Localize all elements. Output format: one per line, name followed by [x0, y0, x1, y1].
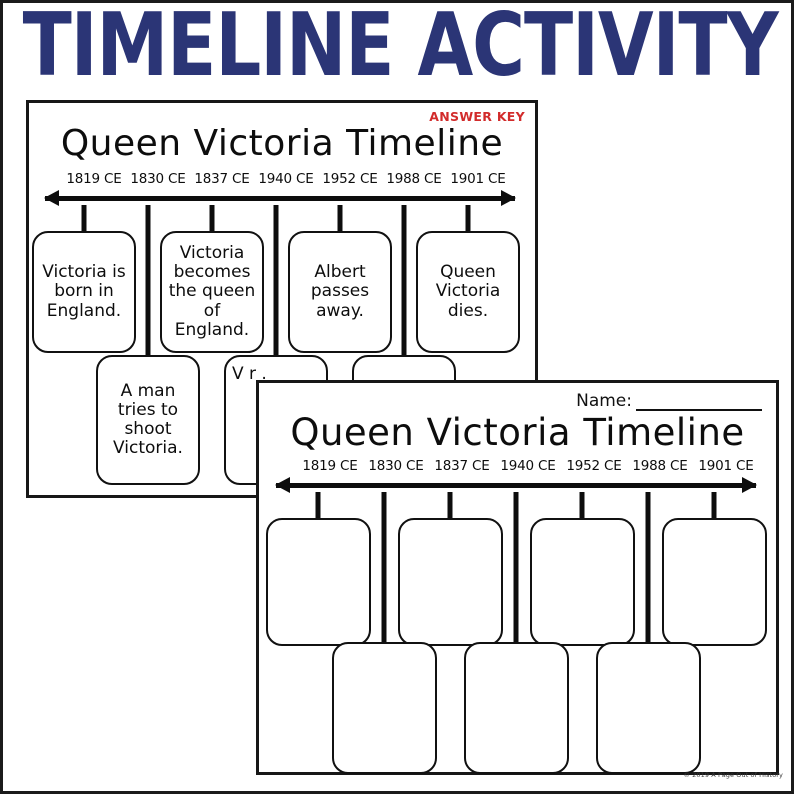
event-box[interactable]	[662, 518, 767, 646]
timeline-tick-stem	[146, 205, 151, 357]
blank-axis	[276, 478, 756, 492]
timeline-date-label: 1952 CE	[322, 171, 377, 187]
blank-worksheet-title: Queen Victoria Timeline	[259, 411, 776, 454]
timeline-tick-stem	[448, 492, 453, 520]
timeline-date-label: 1819 CE	[302, 458, 357, 474]
timeline-tick-stem	[712, 492, 717, 520]
blank-timeline: 1819 CE1830 CE1837 CE1940 CE1952 CE1988 …	[259, 458, 776, 770]
timeline-tick-stem	[382, 492, 387, 644]
name-input-rule[interactable]	[636, 396, 762, 411]
axis-line	[276, 483, 756, 488]
timeline-date-label: 1940 CE	[258, 171, 313, 187]
answer-key-title: Queen Victoria Timeline	[29, 123, 535, 164]
name-label: Name:	[576, 391, 632, 411]
event-box[interactable]: Queen Victoria dies.	[416, 231, 520, 353]
timeline-date-label: 1830 CE	[368, 458, 423, 474]
event-box[interactable]	[530, 518, 635, 646]
event-box[interactable]	[596, 642, 701, 774]
timeline-date-label: 1901 CE	[698, 458, 753, 474]
answer-key-axis	[45, 191, 515, 205]
timeline-tick-stem	[514, 492, 519, 644]
name-field[interactable]: Name:	[576, 391, 762, 411]
timeline-date-label: 1830 CE	[130, 171, 185, 187]
copyright-notice: © 2019 A Page Out of History	[683, 771, 783, 779]
timeline-tick-stem	[580, 492, 585, 520]
event-box[interactable]	[266, 518, 371, 646]
event-box[interactable]	[398, 518, 503, 646]
event-box[interactable]: Albert passes away.	[288, 231, 392, 353]
blank-date-row: 1819 CE1830 CE1837 CE1940 CE1952 CE1988 …	[289, 458, 741, 478]
timeline-tick-stem	[338, 205, 343, 233]
timeline-date-label: 1940 CE	[500, 458, 555, 474]
timeline-tick-stem	[82, 205, 87, 233]
event-box[interactable]: Victoria becomes the queen of England.	[160, 231, 264, 353]
answer-key-badge: ANSWER KEY	[429, 109, 525, 124]
timeline-date-label: 1988 CE	[386, 171, 441, 187]
banner: TIMELINE ACTIVITY	[3, 5, 794, 89]
timeline-tick-stem	[466, 205, 471, 233]
worksheet-preview-canvas: TIMELINE ACTIVITY ANSWER KEY Queen Victo…	[0, 0, 794, 794]
answer-key-date-row: 1819 CE1830 CE1837 CE1940 CE1952 CE1988 …	[55, 171, 497, 191]
blank-worksheet[interactable]: Name: Queen Victoria Timeline 1819 CE183…	[256, 380, 779, 775]
timeline-date-label: 1988 CE	[632, 458, 687, 474]
timeline-tick-stem	[210, 205, 215, 233]
timeline-tick-stem	[274, 205, 279, 357]
axis-arrow-right-icon	[501, 190, 516, 206]
timeline-date-label: 1901 CE	[450, 171, 505, 187]
timeline-date-label: 1952 CE	[566, 458, 621, 474]
timeline-date-label: 1837 CE	[434, 458, 489, 474]
timeline-tick-stem	[402, 205, 407, 357]
axis-arrow-left-icon	[44, 190, 59, 206]
page-title: TIMELINE ACTIVITY	[23, 3, 778, 90]
event-box[interactable]	[332, 642, 437, 774]
timeline-date-label: 1837 CE	[194, 171, 249, 187]
event-box[interactable]: A man tries to shoot Victoria.	[96, 355, 200, 485]
axis-line	[45, 196, 515, 201]
timeline-tick-stem	[646, 492, 651, 644]
event-box[interactable]: Victoria is born in England.	[32, 231, 136, 353]
timeline-tick-stem	[316, 492, 321, 520]
event-box[interactable]	[464, 642, 569, 774]
timeline-date-label: 1819 CE	[66, 171, 121, 187]
axis-arrow-right-icon	[742, 477, 757, 493]
axis-arrow-left-icon	[275, 477, 290, 493]
blank-board	[259, 492, 776, 770]
